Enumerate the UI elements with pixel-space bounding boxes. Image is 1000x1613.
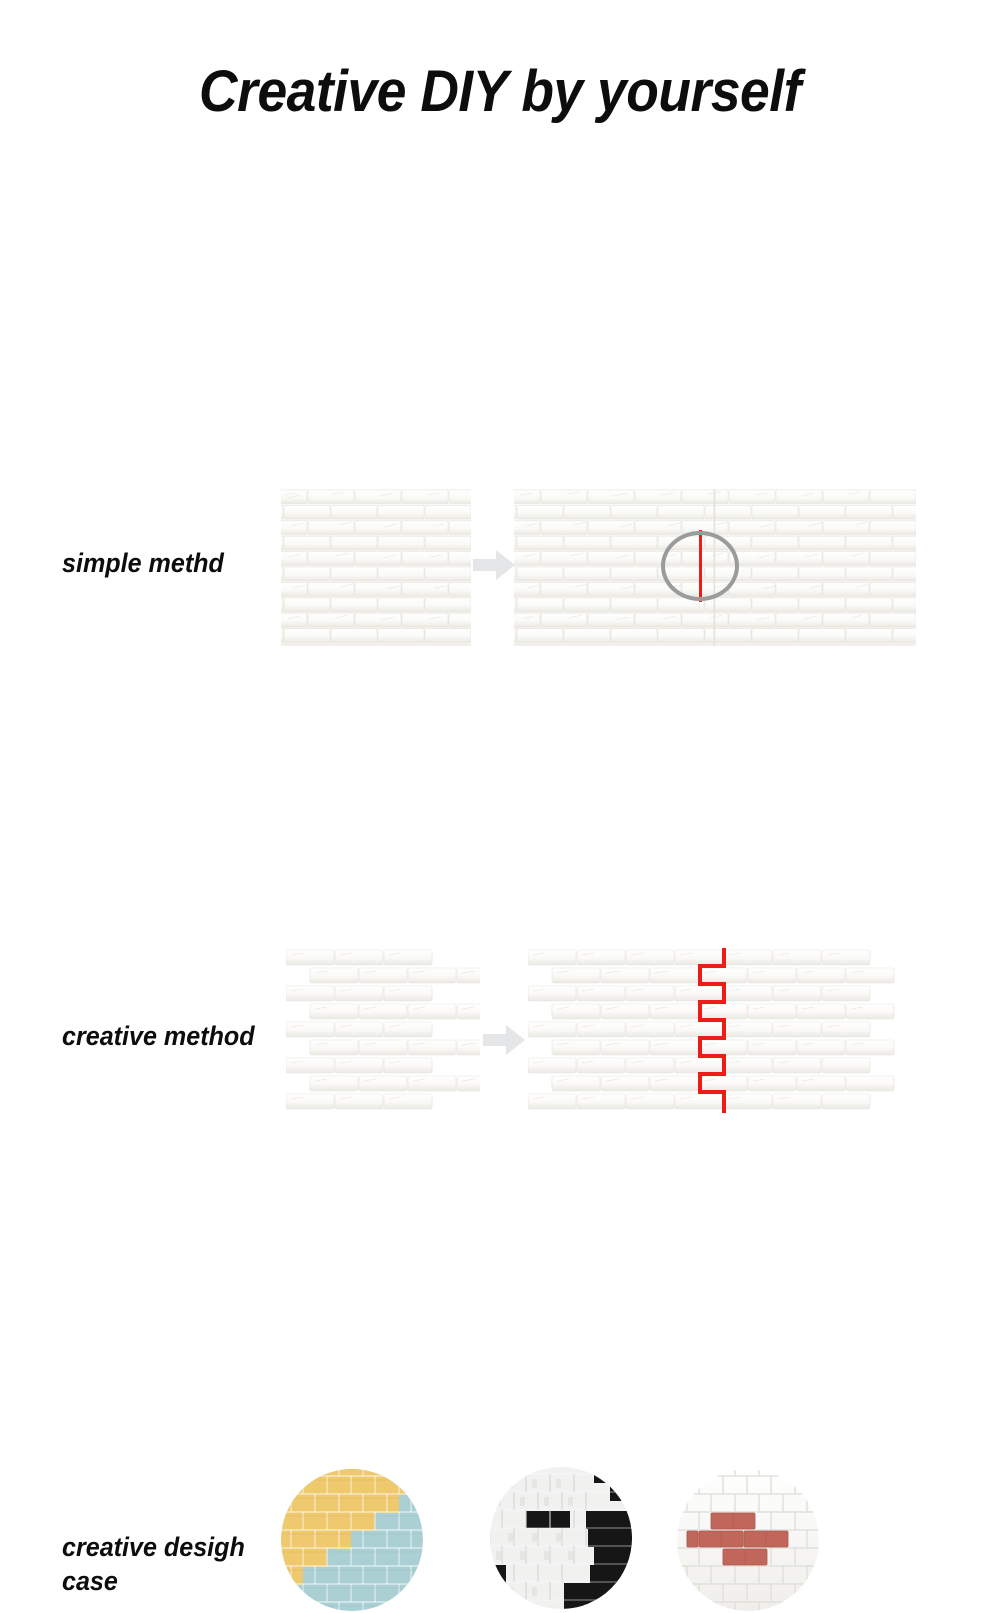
row-design-cases: creative desigh case (0, 730, 1000, 900)
design-case-white-red-cross[interactable] (677, 1467, 819, 1613)
row-creative-method: creative method (0, 470, 1000, 655)
design-case-black-white-pixel[interactable] (490, 1465, 632, 1611)
arrow-right-icon (482, 1023, 526, 1057)
panel-creative-before (286, 948, 480, 1113)
row-label-creative-method: creative method (62, 1019, 255, 1053)
row-simple-method: simple methd (0, 240, 1000, 440)
design-case-yellow-blue-diagonal[interactable] (281, 1467, 423, 1613)
page-title: Creative DIY by yourself (40, 58, 960, 125)
row-label-design-case: creative desigh case (62, 1530, 245, 1598)
panel-creative-after (528, 948, 916, 1113)
